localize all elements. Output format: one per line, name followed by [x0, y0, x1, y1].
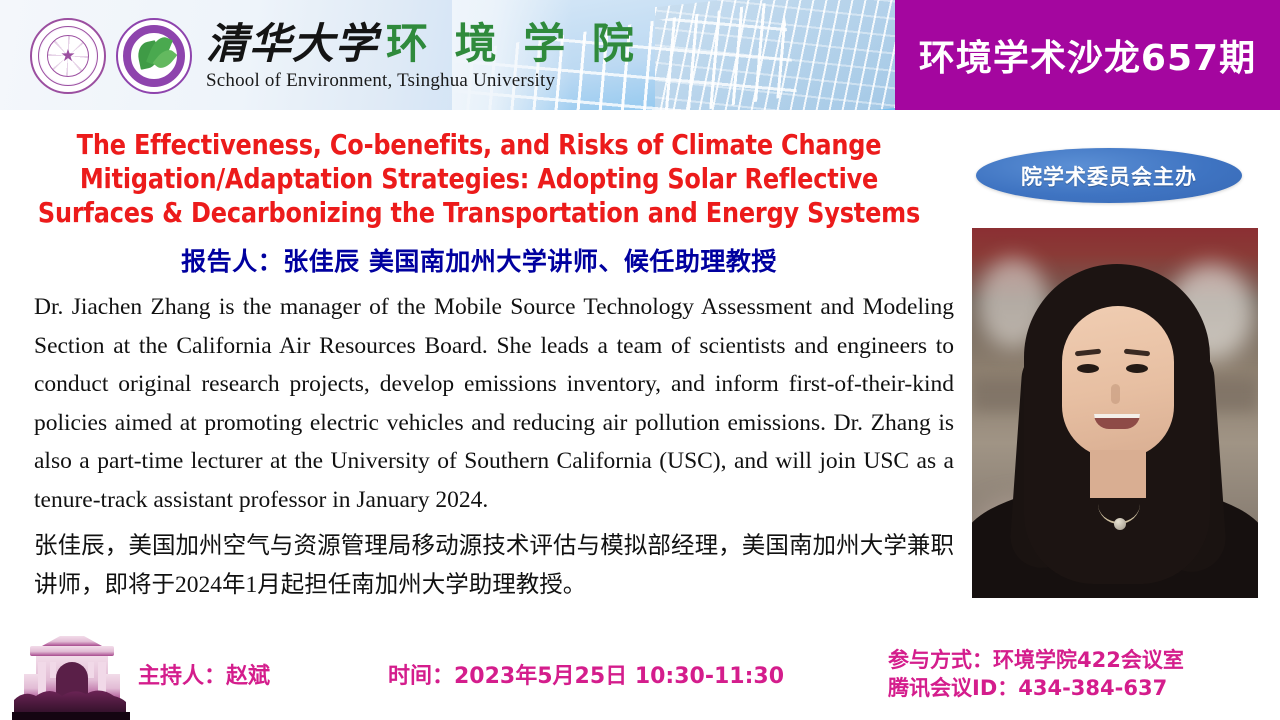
join-info: 参与方式：环境学院422会议室 腾讯会议ID：434-384-637	[888, 646, 1184, 702]
join-location: 参与方式：环境学院422会议室	[888, 646, 1184, 674]
title-line-1: The Effectiveness, Co-benefits, and Risk…	[14, 128, 943, 162]
organizer-badge: 院学术委员会主办	[976, 148, 1242, 203]
wordmark-university-cn: 清华大学	[206, 23, 378, 65]
speaker-photo	[972, 228, 1258, 598]
organizer-badge-label: 院学术委员会主办	[1021, 161, 1197, 191]
poster-header: ★ 清华大学 环 境 学 院 School of Environment, Ts…	[0, 0, 1280, 110]
seminar-series-banner: 环境学术沙龙657期	[895, 0, 1280, 110]
seminar-series-label: 环境学术沙龙657期	[919, 29, 1256, 81]
speaker-biography: Dr. Jiachen Zhang is the manager of the …	[34, 288, 954, 604]
biography-english: Dr. Jiachen Zhang is the manager of the …	[34, 288, 954, 519]
photo-pendant	[1114, 518, 1126, 530]
title-line-2: Mitigation/Adaptation Strategies: Adopti…	[14, 162, 943, 196]
photo-eye	[1126, 364, 1148, 373]
title-line-3: Surfaces & Decarbonizing the Transportat…	[14, 196, 943, 230]
time-info: 时间：2023年5月25日 10:30-11:30	[388, 658, 784, 690]
star-icon: ★	[60, 47, 75, 64]
wordmark-english: School of Environment, Tsinghua Universi…	[206, 71, 640, 90]
photo-eye	[1077, 364, 1099, 373]
tsinghua-second-gate-icon	[8, 628, 136, 720]
tsinghua-university-seal-icon: ★	[30, 18, 106, 94]
speaker-line: 报告人：张佳辰 美国南加州大学讲师、候任助理教授	[0, 242, 958, 278]
wordmark-school-cn: 环 境 学 院	[380, 23, 640, 65]
school-wordmark: 清华大学 环 境 学 院 School of Environment, Tsin…	[206, 23, 640, 90]
header-logos: ★ 清华大学 环 境 学 院 School of Environment, Ts…	[30, 16, 640, 96]
seminar-poster: ★ 清华大学 环 境 学 院 School of Environment, Ts…	[0, 0, 1280, 720]
biography-chinese: 张佳辰，美国加州空气与资源管理局移动源技术评估与模拟部经理，美国南加州大学兼职讲…	[34, 527, 954, 604]
host-info: 主持人：赵斌	[138, 658, 270, 690]
join-meeting-id: 腾讯会议ID：434-384-637	[888, 674, 1184, 702]
school-of-environment-logo-icon	[116, 18, 192, 94]
photo-nose	[1111, 384, 1120, 404]
page-title: The Effectiveness, Co-benefits, and Risk…	[0, 128, 958, 230]
photo-face	[1062, 306, 1174, 458]
